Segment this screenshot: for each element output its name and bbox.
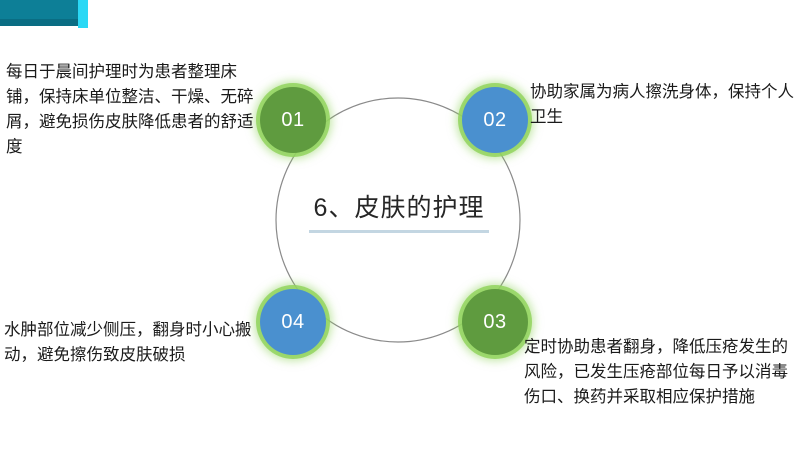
- node-text-04: 水肿部位减少侧压，翻身时小心搬动，避免擦伤致皮肤破损: [4, 318, 280, 368]
- node-number-03: 03: [483, 311, 506, 334]
- center-title-block: 6、皮肤的护理: [289, 188, 509, 233]
- node-number-01: 01: [281, 109, 304, 132]
- node-text-03: 定时协助患者翻身，降低压疮发生的风险，已发生压疮部位每日予以消毒伤口、换药并采取…: [524, 335, 796, 410]
- node-circle-02[interactable]: 02: [462, 87, 528, 153]
- node-text-02: 协助家属为病人擦洗身体，保持个人卫生: [530, 80, 795, 130]
- node-circle-01[interactable]: 01: [260, 87, 326, 153]
- node-number-04: 04: [281, 311, 304, 334]
- node-circle-03[interactable]: 03: [462, 289, 528, 355]
- center-title-underline: [309, 230, 489, 233]
- slide-canvas: 01 02 03 04 6、皮肤的护理 每日于晨间护理时为患者整理床铺，保持床单…: [0, 0, 800, 450]
- node-text-01: 每日于晨间护理时为患者整理床铺，保持床单位整洁、干燥、无碎屑，避免损伤皮肤降低患…: [6, 60, 258, 160]
- node-number-02: 02: [483, 109, 506, 132]
- center-title-text: 6、皮肤的护理: [289, 188, 509, 224]
